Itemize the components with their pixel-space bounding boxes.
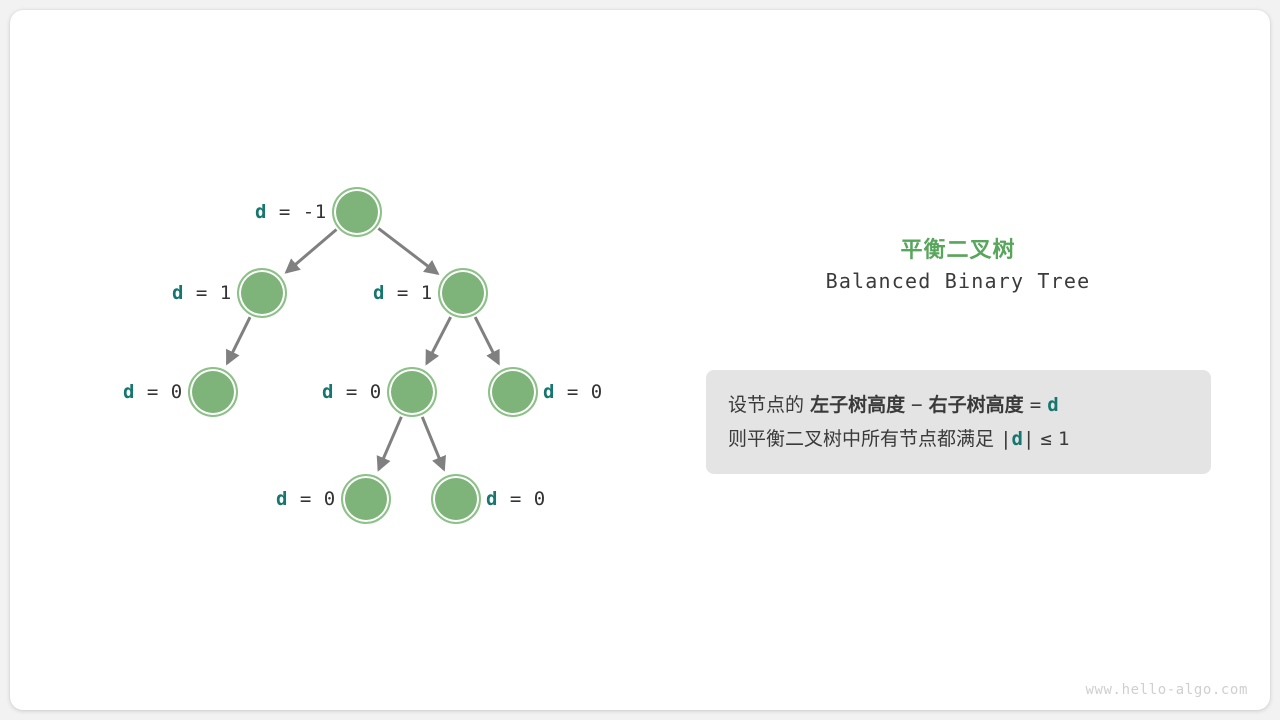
balance-factor-value: -1 <box>303 201 327 223</box>
description-panel: 平衡二叉树 Balanced Binary Tree 设节点的 左子树高度 − … <box>690 10 1250 710</box>
balance-factor-value: 1 <box>220 282 232 304</box>
variable-d: d <box>543 381 555 403</box>
edge-group <box>227 228 498 469</box>
node-balance-factor-label: d = 1 <box>172 282 232 304</box>
page-subtitle: Balanced Binary Tree <box>690 269 1226 293</box>
tree-node[interactable] <box>237 268 287 318</box>
tree-edge <box>379 417 402 470</box>
balance-factor-value: 1 <box>421 282 433 304</box>
balance-factor-value: 0 <box>370 381 382 403</box>
variable-d: d <box>255 201 267 223</box>
balance-factor-value: 0 <box>171 381 183 403</box>
balance-factor-value: 0 <box>324 488 336 510</box>
node-balance-factor-label: d = 0 <box>486 488 546 510</box>
variable-d: d <box>123 381 135 403</box>
tree-node[interactable] <box>438 268 488 318</box>
definition-line-2: 则平衡二叉树中所有节点都满足 |d| ≤ 1 <box>706 422 1211 456</box>
equals-operator: = <box>288 488 324 510</box>
tree-node[interactable] <box>488 367 538 417</box>
tree-node[interactable] <box>341 474 391 524</box>
tree-node[interactable] <box>188 367 238 417</box>
definition-prefix: 设节点的 <box>728 394 804 416</box>
binary-tree-diagram: d = -1d = 1d = 1d = 0d = 0d = 0d = 0d = … <box>10 10 670 710</box>
definition-box: 设节点的 左子树高度 − 右子树高度 = d 则平衡二叉树中所有节点都满足 |d… <box>706 370 1211 474</box>
node-balance-factor-label: d = 0 <box>276 488 336 510</box>
abs-bar-open: | <box>1000 428 1011 450</box>
variable-d: d <box>1047 394 1058 416</box>
tree-edge <box>286 230 336 273</box>
screenshot-canvas: d = -1d = 1d = 1d = 0d = 0d = 0d = 0d = … <box>0 0 1280 720</box>
bound-value: 1 <box>1058 428 1069 450</box>
node-balance-factor-label: d = -1 <box>255 201 327 223</box>
equals-operator: = <box>1030 394 1041 416</box>
balance-factor-value: 0 <box>591 381 603 403</box>
footer-url: www.hello-algo.com <box>10 682 1248 698</box>
page-title: 平衡二叉树 <box>690 232 1226 264</box>
tree-node[interactable] <box>387 367 437 417</box>
equals-operator: = <box>135 381 171 403</box>
tree-node[interactable] <box>431 474 481 524</box>
equals-operator: = <box>498 488 534 510</box>
equals-operator: = <box>385 282 421 304</box>
tree-edges-layer <box>10 10 670 710</box>
tree-edge <box>422 417 444 469</box>
definition-line-1: 设节点的 左子树高度 − 右子树高度 = d <box>706 388 1211 422</box>
less-equal-operator: ≤ <box>1040 428 1051 450</box>
tree-edge <box>475 317 498 363</box>
variable-d: d <box>276 488 288 510</box>
tree-edge <box>378 228 437 273</box>
equals-operator: = <box>334 381 370 403</box>
variable-d: d <box>486 488 498 510</box>
tree-edge <box>227 317 250 363</box>
content-card: d = -1d = 1d = 1d = 0d = 0d = 0d = 0d = … <box>10 10 1270 710</box>
left-subtree-height-term: 左子树高度 <box>810 394 905 416</box>
variable-d: d <box>172 282 184 304</box>
node-balance-factor-label: d = 0 <box>543 381 603 403</box>
right-subtree-height-term: 右子树高度 <box>929 394 1024 416</box>
balance-factor-value: 0 <box>534 488 546 510</box>
minus-operator: − <box>911 394 922 416</box>
tree-node[interactable] <box>332 187 382 237</box>
equals-operator: = <box>184 282 220 304</box>
tree-edge <box>427 317 451 364</box>
variable-d: d <box>373 282 385 304</box>
node-balance-factor-label: d = 0 <box>123 381 183 403</box>
variable-d: d <box>1012 428 1023 450</box>
node-balance-factor-label: d = 1 <box>373 282 433 304</box>
abs-bar-close: | <box>1023 428 1034 450</box>
condition-prefix: 则平衡二叉树中所有节点都满足 <box>728 428 994 450</box>
equals-operator: = <box>267 201 303 223</box>
node-balance-factor-label: d = 0 <box>322 381 382 403</box>
variable-d: d <box>322 381 334 403</box>
equals-operator: = <box>555 381 591 403</box>
